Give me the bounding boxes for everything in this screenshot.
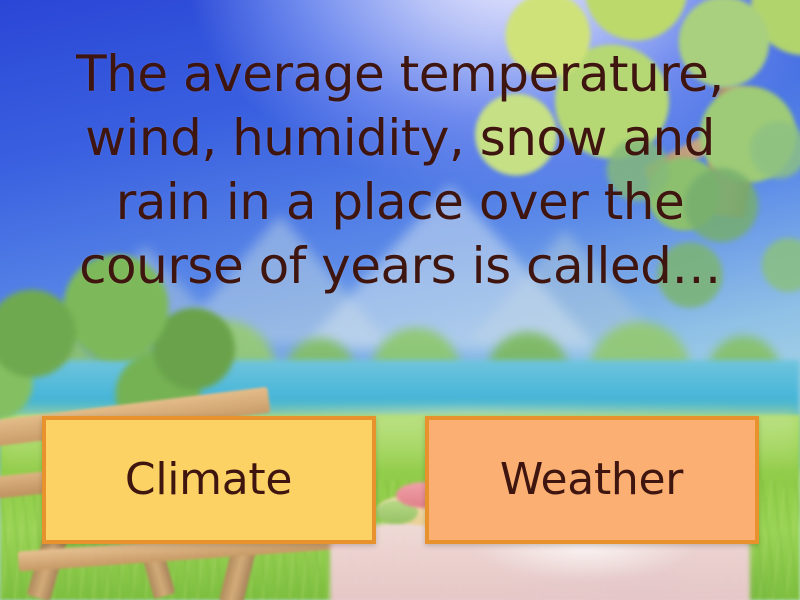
quiz-content: The average temperature, wind, humidity,… xyxy=(0,0,800,600)
answer-option-label: Weather xyxy=(500,458,683,502)
answer-option-climate[interactable]: Climate xyxy=(42,416,376,544)
question-text: The average temperature, wind, humidity,… xyxy=(0,42,800,298)
answer-options: Climate Weather xyxy=(0,416,800,544)
answer-option-label: Climate xyxy=(125,458,292,502)
answer-option-weather[interactable]: Weather xyxy=(425,416,759,544)
